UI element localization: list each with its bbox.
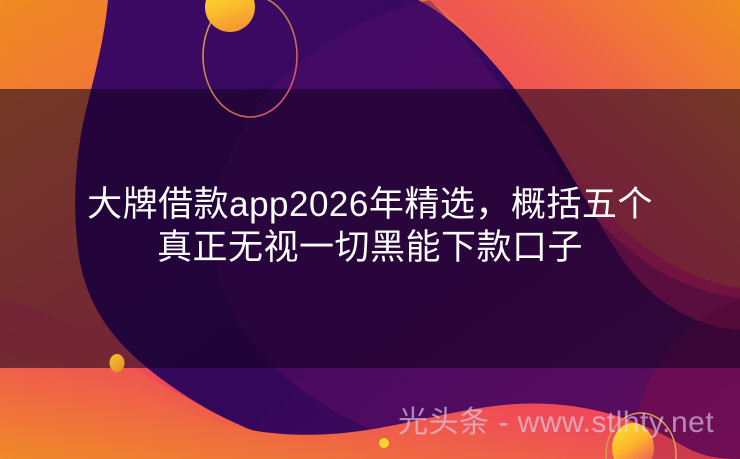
- amber-dot-icon: [110, 354, 125, 372]
- yellow-dot-icon: [379, 438, 389, 448]
- poster-canvas: 大牌借款app2026年精选，概括五个 真正无视一切黑能下款口子 光头条 - w…: [0, 0, 740, 459]
- dark-overlay-band: [0, 89, 740, 368]
- background-artwork: [0, 0, 740, 459]
- watermark-text: 光头条 - www.stlhty.net: [398, 405, 714, 441]
